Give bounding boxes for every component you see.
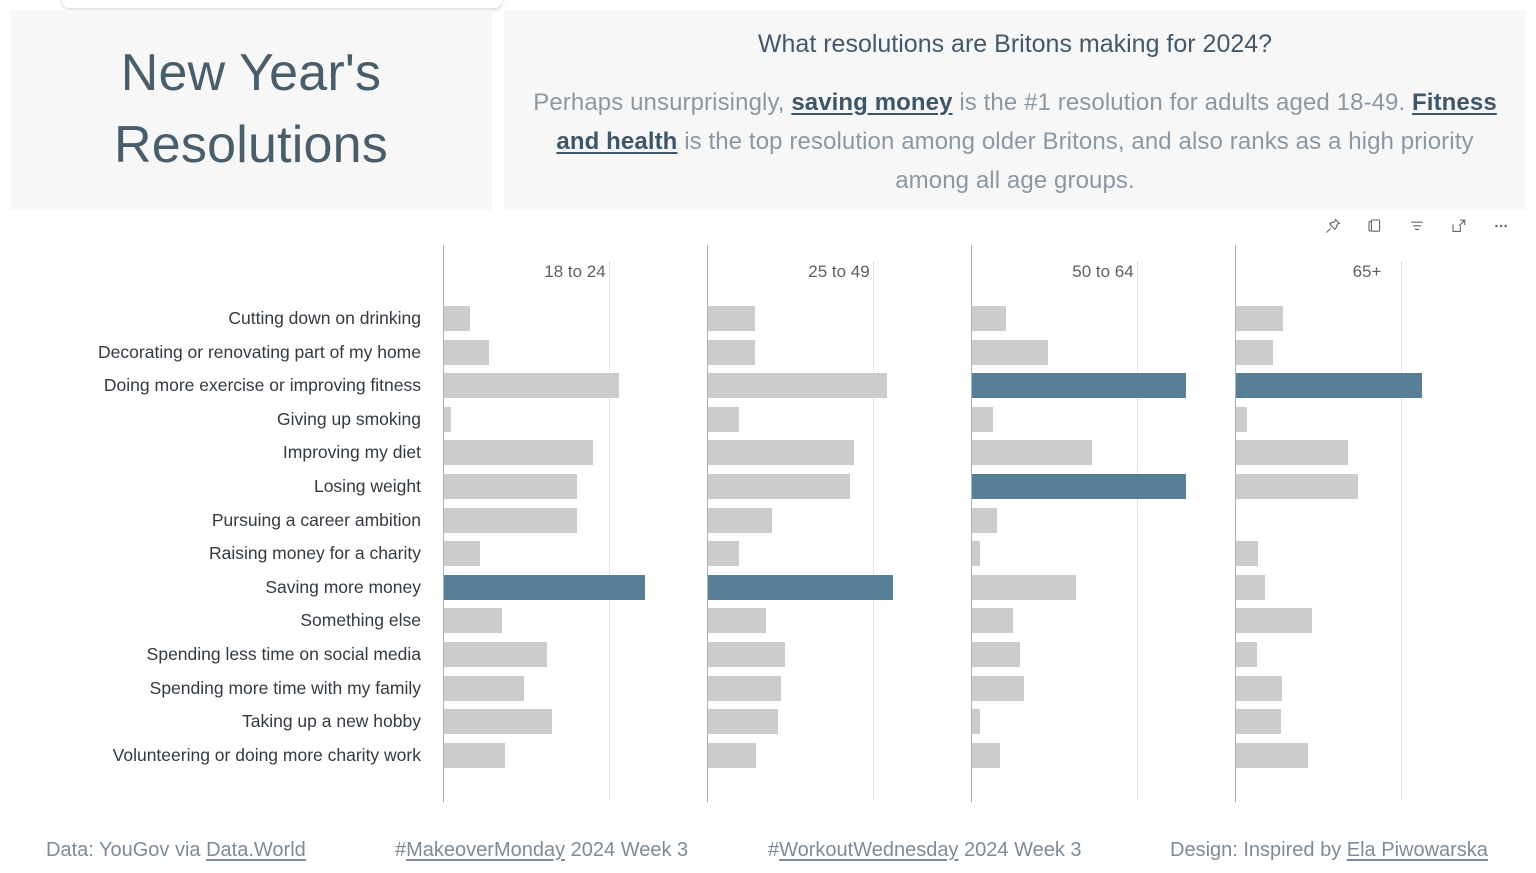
- bar[interactable]: [444, 541, 480, 566]
- category-row: Decorating or renovating part of my home: [10, 336, 443, 370]
- bar[interactable]: [444, 642, 547, 667]
- bar-row: [443, 302, 707, 336]
- bar[interactable]: [1236, 676, 1282, 701]
- bar[interactable]: [972, 743, 1000, 768]
- report-card: [62, 0, 502, 8]
- category-row: Taking up a new hobby: [10, 705, 443, 739]
- bar[interactable]: [972, 340, 1048, 365]
- bar-row: [971, 336, 1235, 370]
- category-label[interactable]: Improving my diet: [283, 436, 421, 470]
- bar-row: [707, 672, 971, 706]
- bar[interactable]: [1236, 340, 1273, 365]
- bar[interactable]: [1236, 440, 1348, 465]
- bar-row: [707, 302, 971, 336]
- bar-row: [443, 504, 707, 538]
- copy-icon[interactable]: [1362, 213, 1388, 239]
- category-label[interactable]: Spending more time with my family: [150, 672, 421, 706]
- bar-row: [707, 470, 971, 504]
- bar-row: [707, 336, 971, 370]
- bar-row: [971, 302, 1235, 336]
- category-row: Doing more exercise or improving fitness: [10, 369, 443, 403]
- category-row: Improving my diet: [10, 436, 443, 470]
- bar[interactable]: [972, 642, 1020, 667]
- bar[interactable]: [1236, 474, 1358, 499]
- bar[interactable]: [972, 709, 980, 734]
- chart-grid: Cutting down on drinkingDecorating or re…: [10, 240, 1526, 820]
- category-label[interactable]: Something else: [300, 604, 421, 638]
- category-label[interactable]: Volunteering or doing more charity work: [113, 739, 421, 773]
- bar[interactable]: [444, 508, 577, 533]
- bar[interactable]: [444, 373, 619, 398]
- bar-row: [1235, 571, 1520, 605]
- bar-row: [971, 436, 1235, 470]
- bar-row: [707, 369, 971, 403]
- bar[interactable]: [1236, 642, 1257, 667]
- bar[interactable]: [444, 306, 470, 331]
- footer-makeovermonday: #MakeoverMonday 2024 Week 3: [395, 839, 688, 862]
- page-title: New Year's Resolutions: [114, 38, 388, 182]
- bar-row: [443, 336, 707, 370]
- footer: Data: YouGov via Data.World #MakeoverMon…: [0, 828, 1536, 873]
- bar-row: [971, 604, 1235, 638]
- bar[interactable]: [1236, 743, 1308, 768]
- bar[interactable]: [1236, 608, 1312, 633]
- bar-row: [1235, 302, 1520, 336]
- footer-mm-hash: #: [395, 839, 406, 861]
- category-row: Volunteering or doing more charity work: [10, 739, 443, 773]
- bar[interactable]: [444, 676, 524, 701]
- panel-header-2: 50 to 64: [971, 262, 1235, 282]
- bar-row: [971, 739, 1235, 773]
- bar[interactable]: [972, 676, 1024, 701]
- bar-row: [707, 571, 971, 605]
- bar-row: [1235, 604, 1520, 638]
- bar[interactable]: [972, 608, 1013, 633]
- pin-icon[interactable]: [1320, 213, 1346, 239]
- category-row: Something else: [10, 604, 443, 638]
- bar-row: [443, 369, 707, 403]
- title-line-2: Resolutions: [114, 110, 388, 182]
- subtext-highlight-saving-money: saving money: [791, 89, 952, 116]
- bar-row: [971, 470, 1235, 504]
- bar-row: [707, 504, 971, 538]
- category-label[interactable]: Spending less time on social media: [147, 638, 421, 672]
- footer-ww-post: 2024 Week 3: [958, 839, 1081, 861]
- bar-row: [971, 403, 1235, 437]
- bar-row: [707, 537, 971, 571]
- bar[interactable]: [708, 575, 893, 600]
- bar[interactable]: [444, 440, 593, 465]
- bar-row: [1235, 403, 1520, 437]
- bar[interactable]: [444, 575, 645, 600]
- bar[interactable]: [1236, 306, 1283, 331]
- category-row: Saving more money: [10, 571, 443, 605]
- footer-design-link[interactable]: Ela Piwowarska: [1347, 839, 1488, 861]
- bar-row: [971, 537, 1235, 571]
- footer-data-pre: Data: YouGov via: [46, 839, 206, 861]
- bar-row: [971, 672, 1235, 706]
- bar-row: [707, 638, 971, 672]
- bar[interactable]: [444, 340, 489, 365]
- category-row: Cutting down on drinking: [10, 302, 443, 336]
- category-row: Spending more time with my family: [10, 672, 443, 706]
- title-panel: New Year's Resolutions: [10, 10, 492, 210]
- report-canvas: New Year's Resolutions What resolutions …: [0, 0, 1536, 873]
- bar-row: [707, 705, 971, 739]
- footer-ww-link[interactable]: WorkoutWednesday: [779, 839, 958, 861]
- bar[interactable]: [444, 709, 552, 734]
- footer-data-link[interactable]: Data.World: [206, 839, 306, 861]
- category-row: Losing weight: [10, 470, 443, 504]
- footer-data-source: Data: YouGov via Data.World: [46, 839, 306, 862]
- bar[interactable]: [708, 508, 772, 533]
- bar-row: [443, 739, 707, 773]
- bar[interactable]: [1236, 407, 1247, 432]
- bar-row: [707, 604, 971, 638]
- bar-row: [1235, 739, 1520, 773]
- bar[interactable]: [444, 407, 451, 432]
- category-row: Giving up smoking: [10, 403, 443, 437]
- bar[interactable]: [444, 474, 577, 499]
- panel-18-to-24: 18 to 24: [443, 240, 707, 820]
- bar[interactable]: [972, 440, 1092, 465]
- row-label-axis: Cutting down on drinkingDecorating or re…: [10, 240, 443, 820]
- bar-row: [443, 604, 707, 638]
- bar-row: [443, 537, 707, 571]
- small-multiples-bar-chart: Cutting down on drinkingDecorating or re…: [0, 240, 1536, 820]
- footer-ww-hash: #: [768, 839, 779, 861]
- category-label[interactable]: Decorating or renovating part of my home: [98, 336, 421, 370]
- category-label[interactable]: Cutting down on drinking: [228, 302, 421, 336]
- bar-row: [443, 638, 707, 672]
- bar-row: [1235, 638, 1520, 672]
- more-options-icon[interactable]: [1488, 213, 1514, 239]
- bar-row: [1235, 369, 1520, 403]
- footer-design-pre: Design: Inspired by: [1170, 839, 1347, 861]
- footer-design-credit: Design: Inspired by Ela Piwowarska: [1170, 839, 1488, 862]
- bar[interactable]: [972, 508, 997, 533]
- headline-panel: What resolutions are Britons making for …: [504, 10, 1526, 210]
- bar-row: [707, 436, 971, 470]
- headline-subtext: Perhaps unsurprisingly, saving money is …: [518, 84, 1512, 201]
- bar[interactable]: [1236, 373, 1422, 398]
- bar[interactable]: [708, 541, 739, 566]
- category-label[interactable]: Taking up a new hobby: [242, 705, 421, 739]
- headline-question: What resolutions are Britons making for …: [518, 28, 1512, 62]
- bar[interactable]: [708, 709, 778, 734]
- bar-row: [1235, 470, 1520, 504]
- category-label[interactable]: Raising money for a charity: [209, 537, 421, 571]
- bar[interactable]: [708, 676, 781, 701]
- bar-row: [707, 739, 971, 773]
- subtext-mid: is the #1 resolution for adults aged 18-…: [953, 89, 1412, 116]
- bar[interactable]: [708, 474, 850, 499]
- panel-header-0: 18 to 24: [443, 262, 707, 282]
- bar[interactable]: [708, 642, 785, 667]
- bar[interactable]: [972, 306, 1006, 331]
- bar-row: [971, 369, 1235, 403]
- bar-row: [443, 470, 707, 504]
- bar[interactable]: [708, 306, 755, 331]
- bar-row: [443, 705, 707, 739]
- bar[interactable]: [708, 373, 887, 398]
- category-row: Pursuing a career ambition: [10, 504, 443, 538]
- bar-row: [1235, 336, 1520, 370]
- bar-row: [443, 436, 707, 470]
- bar[interactable]: [708, 608, 766, 633]
- bar-row: [971, 504, 1235, 538]
- bar[interactable]: [972, 373, 1186, 398]
- bar[interactable]: [972, 474, 1186, 499]
- bar-row: [443, 403, 707, 437]
- bar-row: [1235, 436, 1520, 470]
- bar[interactable]: [972, 407, 993, 432]
- bar[interactable]: [972, 541, 980, 566]
- bar[interactable]: [972, 575, 1076, 600]
- panel-50-to-64: 50 to 64: [971, 240, 1235, 820]
- bar-row: [971, 705, 1235, 739]
- category-label[interactable]: Losing weight: [314, 470, 421, 504]
- category-row: Raising money for a charity: [10, 537, 443, 571]
- bar[interactable]: [708, 440, 854, 465]
- bar[interactable]: [1236, 541, 1258, 566]
- category-label[interactable]: Doing more exercise or improving fitness: [104, 369, 421, 403]
- bar-row: [1235, 705, 1520, 739]
- visual-header-toolbar: [1320, 212, 1514, 240]
- panel-65-plus: 65+: [1235, 240, 1520, 820]
- category-label[interactable]: Saving more money: [265, 571, 421, 605]
- bar[interactable]: [708, 340, 755, 365]
- footer-workoutwednesday: #WorkoutWednesday 2024 Week 3: [768, 839, 1082, 862]
- panel-25-to-49: 25 to 49: [707, 240, 971, 820]
- bar[interactable]: [708, 743, 756, 768]
- bar[interactable]: [1236, 709, 1281, 734]
- bar-row: [443, 571, 707, 605]
- title-line-1: New Year's: [114, 38, 388, 110]
- bar[interactable]: [708, 407, 739, 432]
- bar-row: [971, 571, 1235, 605]
- category-row: Spending less time on social media: [10, 638, 443, 672]
- bar-row: [443, 672, 707, 706]
- bar[interactable]: [1236, 575, 1265, 600]
- panel-header-3: 65+: [1235, 262, 1499, 282]
- subtext-pre: Perhaps unsurprisingly,: [533, 89, 791, 116]
- bar[interactable]: [444, 743, 505, 768]
- footer-mm-post: 2024 Week 3: [565, 839, 688, 861]
- category-label[interactable]: Giving up smoking: [277, 403, 421, 437]
- filter-icon[interactable]: [1404, 213, 1430, 239]
- category-label[interactable]: Pursuing a career ambition: [212, 504, 421, 538]
- panel-header-1: 25 to 49: [707, 262, 971, 282]
- subtext-post: is the top resolution among older Briton…: [677, 128, 1473, 194]
- bar-row: [1235, 504, 1520, 538]
- focus-mode-icon[interactable]: [1446, 213, 1472, 239]
- bar[interactable]: [444, 608, 502, 633]
- bar-row: [971, 638, 1235, 672]
- bar-row: [707, 403, 971, 437]
- bar-row: [1235, 672, 1520, 706]
- footer-mm-link[interactable]: MakeoverMonday: [406, 839, 565, 861]
- bar-row: [1235, 537, 1520, 571]
